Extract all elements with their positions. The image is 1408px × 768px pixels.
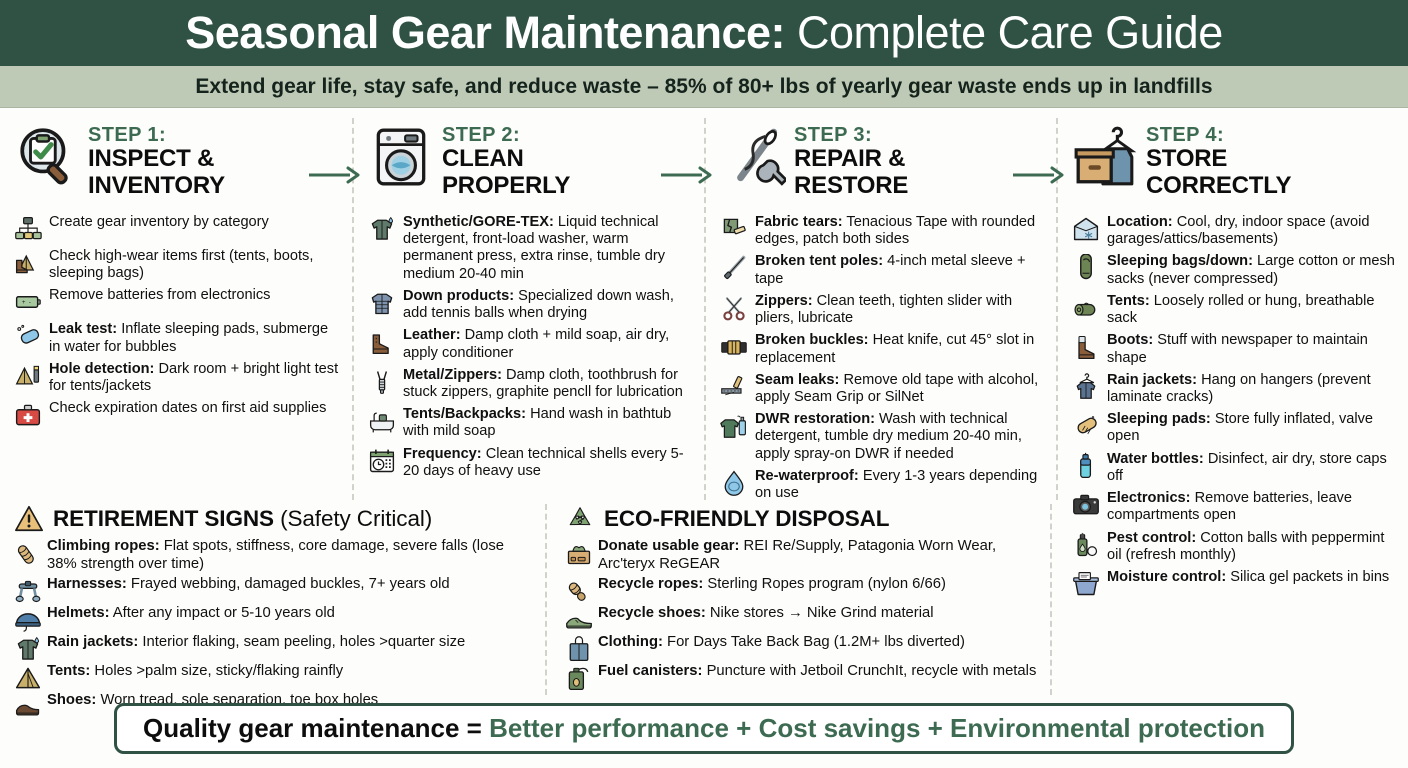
- harness-icon: [14, 577, 40, 603]
- list-item-text: Pest control: Cotton balls with peppermi…: [1107, 530, 1396, 564]
- fabric-patch-icon: [720, 215, 748, 243]
- zipper-icon: [368, 368, 396, 396]
- steps-row: STEP 1:INSPECT &INVENTORYCreate gear inv…: [0, 108, 1408, 500]
- list-item: Rain jackets: Interior flaking, seam pee…: [14, 634, 535, 661]
- retirement-header: RETIREMENT SIGNS (Safety Critical): [14, 504, 535, 534]
- donation-box-icon: [565, 539, 591, 565]
- step-titles: STEP 2:CLEANPROPERLY: [442, 118, 570, 199]
- list-item-text: Tents/Backpacks: Hand wash in bathtub wi…: [403, 406, 692, 440]
- list-item: Create gear inventory by category: [14, 214, 340, 243]
- list-item-text: Leak test: Inflate sleeping pads, submer…: [49, 321, 340, 355]
- magnifier-checklist-icon: [14, 124, 80, 190]
- clothing-bag-icon: [565, 635, 591, 661]
- eco-title: ECO-FRIENDLY DISPOSAL: [604, 506, 889, 532]
- list-item-text: Hole detection: Dark room + bright light…: [49, 361, 340, 395]
- list-item-text: Re-waterproof: Every 1-3 years depending…: [755, 468, 1044, 502]
- calendar-clock-icon: [368, 447, 396, 475]
- svg-text:-: -: [29, 300, 31, 307]
- list-item-text: Rain jackets: Hang on hangers (prevent l…: [1107, 372, 1396, 406]
- step-name: REPAIR &RESTORE: [794, 146, 908, 199]
- step-arrow-icon: [308, 166, 360, 184]
- list-item: +-Remove batteries from electronics: [14, 287, 340, 316]
- jacket-spray-icon: [720, 412, 748, 440]
- eco-header: ECO-FRIENDLY DISPOSAL: [565, 504, 1040, 534]
- step-column-3: STEP 3:REPAIR &RESTOREFabric tears: Tena…: [704, 118, 1056, 500]
- step-item-list: Synthetic/GORE-TEX: Liquid technical det…: [368, 214, 694, 480]
- retirement-title-light: (Safety Critical): [274, 506, 432, 531]
- list-item: Seam leaks: Remove old tape with alcohol…: [720, 372, 1044, 406]
- step-item-list: Location: Cool, dry, indoor space (avoid…: [1072, 214, 1398, 598]
- needle-wrench-icon: [720, 124, 786, 190]
- fuel-canister-icon: [565, 664, 591, 690]
- list-item: Leak test: Inflate sleeping pads, submer…: [14, 321, 340, 355]
- water-droplet-icon: [720, 469, 748, 497]
- list-item-text: Location: Cool, dry, indoor space (avoid…: [1107, 214, 1396, 248]
- step-name: INSPECT &INVENTORY: [88, 146, 225, 199]
- list-item: Clothing: For Days Take Back Bag (1.2M+ …: [565, 634, 1040, 661]
- step-column-2: STEP 2:CLEANPROPERLYSynthetic/GORE-TEX: …: [352, 118, 704, 500]
- scissors-icon: [720, 294, 748, 322]
- list-item-text: Sleeping bags/down: Large cotton or mesh…: [1107, 253, 1396, 287]
- list-item: Boots: Stuff with newspaper to maintain …: [1072, 332, 1396, 366]
- svg-text:+: +: [22, 300, 26, 307]
- rolled-tent-icon: [1072, 294, 1100, 322]
- list-item-text: DWR restoration: Wash with technical det…: [755, 411, 1044, 463]
- list-item: Sleeping pads: Store fully inflated, val…: [1072, 411, 1396, 445]
- list-item-text: Rain jackets: Interior flaking, seam pee…: [47, 634, 465, 652]
- list-item-text: Water bottles: Disinfect, air dry, store…: [1107, 451, 1396, 485]
- title-banner: Seasonal Gear Maintenance: Complete Care…: [0, 0, 1408, 66]
- step-header-3: STEP 3:REPAIR &RESTORE: [720, 118, 1046, 210]
- warning-triangle-icon: [14, 504, 44, 534]
- list-item-text: Create gear inventory by category: [49, 214, 269, 231]
- list-item-text: Synthetic/GORE-TEX: Liquid technical det…: [403, 214, 692, 283]
- list-item-text: Recycle shoes: Nike stores → Nike Grind …: [598, 605, 934, 623]
- footer-text: Quality gear maintenance = Better perfor…: [143, 713, 1265, 744]
- list-item: Fabric tears: Tenacious Tape with rounde…: [720, 214, 1044, 248]
- step-kicker: STEP 4:: [1146, 124, 1291, 146]
- step-item-list: Fabric tears: Tenacious Tape with rounde…: [720, 214, 1046, 502]
- step-header-1: STEP 1:INSPECT &INVENTORY: [14, 118, 342, 210]
- box-hanger-icon: [1072, 124, 1138, 190]
- retirement-title: RETIREMENT SIGNS (Safety Critical): [53, 506, 432, 532]
- retirement-signs-section: RETIREMENT SIGNS (Safety Critical) Climb…: [0, 504, 545, 695]
- list-item: Harnesses: Frayed webbing, damaged buckl…: [14, 576, 535, 603]
- hanging-jacket-icon: [1072, 373, 1100, 401]
- water-bottle-icon: [1072, 452, 1100, 480]
- oil-bottle-icon: [1072, 531, 1100, 559]
- list-item-text: Clothing: For Days Take Back Bag (1.2M+ …: [598, 634, 965, 652]
- step-header-2: STEP 2:CLEANPROPERLY: [368, 118, 694, 210]
- list-item: Donate usable gear: REI Re/Supply, Patag…: [565, 538, 1040, 574]
- retirement-item-list: Climbing ropes: Flat spots, stiffness, c…: [14, 538, 535, 719]
- sneaker-icon: [565, 606, 591, 632]
- storage-bin-icon: [1072, 570, 1100, 598]
- washing-machine-icon: [368, 124, 434, 190]
- list-item-text: Fuel canisters: Puncture with Jetboil Cr…: [598, 663, 1036, 681]
- list-item: Re-waterproof: Every 1-3 years depending…: [720, 468, 1044, 502]
- list-item-text: Zippers: Clean teeth, tighten slider wit…: [755, 293, 1044, 327]
- step-column-1: STEP 1:INSPECT &INVENTORYCreate gear inv…: [0, 118, 352, 500]
- first-aid-kit-icon: [14, 401, 42, 429]
- step-kicker: STEP 2:: [442, 124, 570, 146]
- inflated-pad-icon: [1072, 412, 1100, 440]
- list-item-text: Check expiration dates on first aid supp…: [49, 400, 326, 417]
- list-item: Check expiration dates on first aid supp…: [14, 400, 340, 429]
- list-item: Tents: Holes >palm size, sticky/flaking …: [14, 663, 535, 690]
- footer-wrap: Quality gear maintenance = Better perfor…: [0, 703, 1408, 754]
- rain-jacket-icon: [368, 215, 396, 243]
- list-item: Recycle shoes: Nike stores → Nike Grind …: [565, 605, 1040, 632]
- house-snowflake-icon: [1072, 215, 1100, 243]
- list-item: Check high-wear items first (tents, boot…: [14, 248, 340, 282]
- list-item: Water bottles: Disinfect, air dry, store…: [1072, 451, 1396, 485]
- step-header-4: STEP 4:STORECORRECTLY: [1072, 118, 1398, 210]
- boot-tent-icon: [14, 249, 42, 277]
- step-arrow-icon: [660, 166, 712, 184]
- list-item: Sleeping bags/down: Large cotton or mesh…: [1072, 253, 1396, 287]
- list-item-text: Boots: Stuff with newspaper to maintain …: [1107, 332, 1396, 366]
- list-item: Down products: Specialized down wash, ad…: [368, 288, 692, 322]
- retirement-title-bold: RETIREMENT SIGNS: [53, 506, 274, 531]
- step-item-list: Create gear inventory by categoryCheck h…: [14, 214, 342, 429]
- battery-icon: +-: [14, 288, 42, 316]
- leather-boot-icon: [368, 328, 396, 356]
- list-item: Synthetic/GORE-TEX: Liquid technical det…: [368, 214, 692, 283]
- step-kicker: STEP 3:: [794, 124, 908, 146]
- org-chart-icon: [14, 215, 42, 243]
- list-item-text: Tents: Loosely rolled or hung, breathabl…: [1107, 293, 1396, 327]
- list-item: Climbing ropes: Flat spots, stiffness, c…: [14, 538, 535, 574]
- subtitle-text: Extend gear life, stay safe, and reduce …: [195, 75, 1212, 99]
- list-item: Hole detection: Dark room + bright light…: [14, 361, 340, 395]
- list-item: Zippers: Clean teeth, tighten slider wit…: [720, 293, 1044, 327]
- helmet-icon: [14, 606, 40, 632]
- rope-coil-icon: [565, 577, 591, 603]
- list-item: Location: Cool, dry, indoor space (avoid…: [1072, 214, 1396, 248]
- tent-pole-icon: [720, 254, 748, 282]
- sleeping-bag-icon: [1072, 254, 1100, 282]
- footer-key: Quality gear maintenance =: [143, 713, 489, 743]
- list-item: Metal/Zippers: Damp cloth, toothbrush fo…: [368, 367, 692, 401]
- list-item: Frequency: Clean technical shells every …: [368, 446, 692, 480]
- list-item: Tents/Backpacks: Hand wash in bathtub wi…: [368, 406, 692, 440]
- tent-flashlight-icon: [14, 362, 42, 390]
- step-column-4: STEP 4:STORECORRECTLYLocation: Cool, dry…: [1056, 118, 1408, 500]
- seam-tape-icon: [720, 373, 748, 401]
- list-item-text: Sleeping pads: Store fully inflated, val…: [1107, 411, 1396, 445]
- list-item-text: Frequency: Clean technical shells every …: [403, 446, 692, 480]
- step-name: CLEANPROPERLY: [442, 146, 570, 199]
- step-name: STORECORRECTLY: [1146, 146, 1291, 199]
- list-item-text: Helmets: After any impact or 5-10 years …: [47, 605, 335, 623]
- step-titles: STEP 3:REPAIR &RESTORE: [794, 118, 908, 199]
- camera-icon: [1072, 491, 1100, 519]
- list-item: Broken tent poles: 4-inch metal sleeve +…: [720, 253, 1044, 287]
- list-item: Rain jackets: Hang on hangers (prevent l…: [1072, 372, 1396, 406]
- list-item-text: Metal/Zippers: Damp cloth, toothbrush fo…: [403, 367, 692, 401]
- footer-value: Better performance + Cost savings + Envi…: [489, 713, 1265, 743]
- infographic-page: Seasonal Gear Maintenance: Complete Care…: [0, 0, 1408, 768]
- title-regular-part: Complete Care Guide: [785, 7, 1223, 58]
- list-item: DWR restoration: Wash with technical det…: [720, 411, 1044, 463]
- list-item-text: Tents: Holes >palm size, sticky/flaking …: [47, 663, 343, 681]
- step-titles: STEP 4:STORECORRECTLY: [1146, 118, 1291, 199]
- list-item-text: Climbing ropes: Flat spots, stiffness, c…: [47, 538, 535, 574]
- list-item-text: Remove batteries from electronics: [49, 287, 270, 304]
- stuffed-boot-icon: [1072, 333, 1100, 361]
- list-item: Pest control: Cotton balls with peppermi…: [1072, 530, 1396, 564]
- list-item-text: Electronics: Remove batteries, leave com…: [1107, 490, 1396, 524]
- rain-jacket-icon: [14, 635, 40, 661]
- list-item: Recycle ropes: Sterling Ropes program (n…: [565, 576, 1040, 603]
- list-item-text: Leather: Damp cloth + mild soap, air dry…: [403, 327, 692, 361]
- list-item-text: Seam leaks: Remove old tape with alcohol…: [755, 372, 1044, 406]
- list-item: Helmets: After any impact or 5-10 years …: [14, 605, 535, 632]
- recycle-icon: [565, 504, 595, 534]
- list-item-text: Broken tent poles: 4-inch metal sleeve +…: [755, 253, 1044, 287]
- list-item: Leather: Damp cloth + mild soap, air dry…: [368, 327, 692, 361]
- list-item-text: Donate usable gear: REI Re/Supply, Patag…: [598, 538, 1040, 574]
- down-jacket-icon: [368, 289, 396, 317]
- footer-banner: Quality gear maintenance = Better perfor…: [114, 703, 1294, 754]
- step-kicker: STEP 1:: [88, 124, 225, 146]
- eco-item-list: Donate usable gear: REI Re/Supply, Patag…: [565, 538, 1040, 690]
- list-item: Tents: Loosely rolled or hung, breathabl…: [1072, 293, 1396, 327]
- list-item-text: Check high-wear items first (tents, boot…: [49, 248, 340, 282]
- list-item-text: Moisture control: Silica gel packets in …: [1107, 569, 1389, 586]
- list-item: Electronics: Remove batteries, leave com…: [1072, 490, 1396, 524]
- step-titles: STEP 1:INSPECT &INVENTORY: [88, 118, 225, 199]
- list-item-text: Recycle ropes: Sterling Ropes program (n…: [598, 576, 946, 594]
- list-item: Fuel canisters: Puncture with Jetboil Cr…: [565, 663, 1040, 690]
- tent-icon: [14, 664, 40, 690]
- title-bold-part: Seasonal Gear Maintenance:: [185, 7, 785, 58]
- step-arrow-icon: [1012, 166, 1064, 184]
- sleeping-pad-icon: [14, 322, 42, 350]
- list-item-text: Harnesses: Frayed webbing, damaged buckl…: [47, 576, 450, 594]
- page-title: Seasonal Gear Maintenance: Complete Care…: [185, 7, 1222, 59]
- eco-disposal-section: ECO-FRIENDLY DISPOSAL Donate usable gear…: [545, 504, 1050, 695]
- list-item-text: Broken buckles: Heat knife, cut 45° slot…: [755, 332, 1044, 366]
- list-item: Moisture control: Silica gel packets in …: [1072, 569, 1396, 598]
- list-item-text: Fabric tears: Tenacious Tape with rounde…: [755, 214, 1044, 248]
- climbing-rope-icon: [14, 539, 40, 565]
- bathtub-icon: [368, 407, 396, 435]
- subtitle-banner: Extend gear life, stay safe, and reduce …: [0, 66, 1408, 108]
- list-item-text: Down products: Specialized down wash, ad…: [403, 288, 692, 322]
- buckle-icon: [720, 333, 748, 361]
- list-item: Broken buckles: Heat knife, cut 45° slot…: [720, 332, 1044, 366]
